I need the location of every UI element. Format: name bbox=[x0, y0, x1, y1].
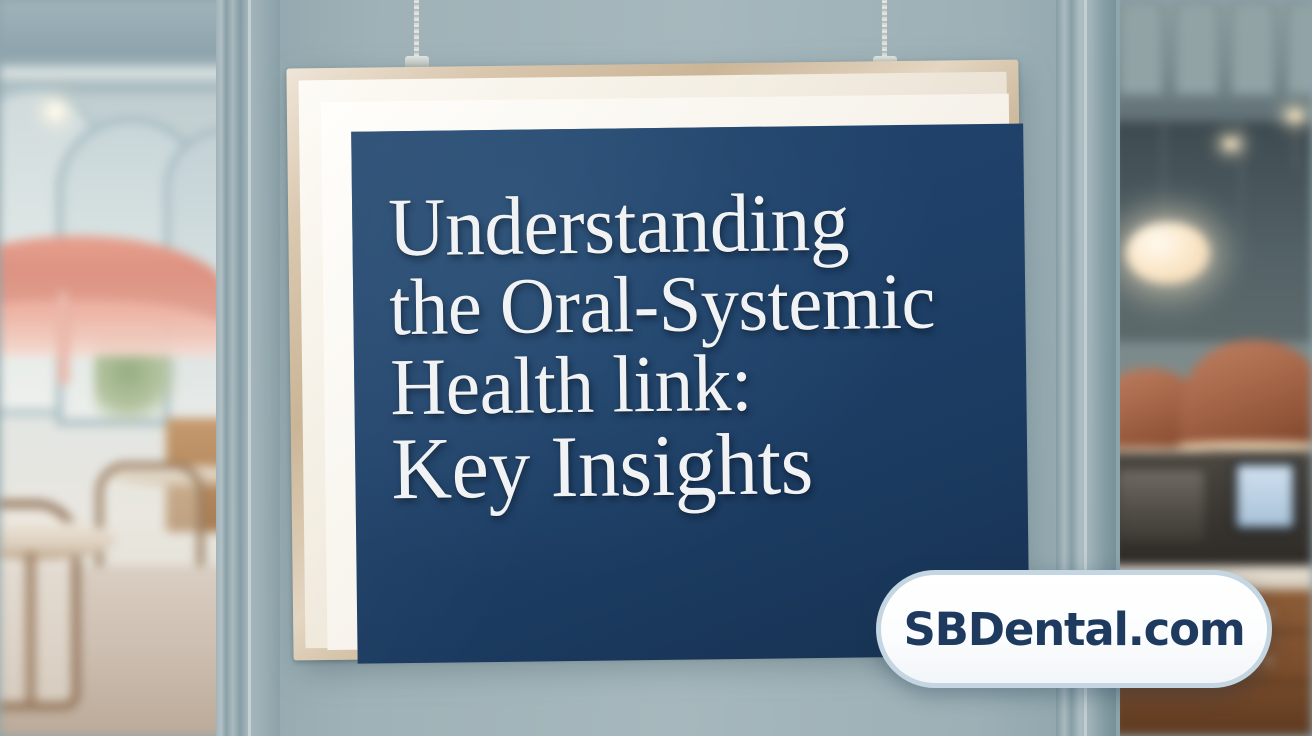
copper-pendant-lamp-2 bbox=[1180, 340, 1312, 448]
pendant-cord-2 bbox=[1240, 120, 1243, 270]
sign-frame-bevel: Understanding the Oral-Systemic Health l… bbox=[299, 72, 1014, 649]
espresso-machine bbox=[1118, 470, 1204, 542]
sign-frame-outer: Understanding the Oral-Systemic Health l… bbox=[286, 60, 1025, 661]
hanging-chain-right bbox=[882, 0, 887, 64]
pos-tablet-screen bbox=[1232, 460, 1298, 532]
sign-headline: Understanding the Oral-Systemic Health l… bbox=[388, 180, 1004, 514]
sign-frame-inner-edge: Understanding the Oral-Systemic Health l… bbox=[321, 94, 1016, 650]
window-pane-1 bbox=[1118, 0, 1164, 96]
scene-root: Understanding the Oral-Systemic Health l… bbox=[0, 0, 1312, 736]
headline-line-1: Understanding bbox=[388, 180, 973, 269]
spotlight-2 bbox=[1288, 112, 1302, 120]
ceiling-beam-left bbox=[0, 66, 248, 80]
umbrella-pole bbox=[58, 292, 69, 384]
bistro-table-leg bbox=[26, 552, 35, 702]
background-cafe-left bbox=[0, 0, 248, 736]
hanging-chain-left bbox=[414, 0, 419, 64]
window-pane-2 bbox=[1174, 0, 1220, 96]
pendant-cord-3 bbox=[1294, 120, 1297, 170]
window-pane-3 bbox=[1230, 0, 1276, 96]
pendant-cord-1 bbox=[1162, 120, 1165, 230]
ceiling-left bbox=[0, 0, 248, 96]
glass-globe-lamp bbox=[1126, 222, 1210, 284]
brand-badge-label: SBDental.com bbox=[903, 603, 1244, 656]
brand-badge[interactable]: SBDental.com bbox=[876, 570, 1272, 688]
ceiling-bulb-icon bbox=[48, 104, 63, 119]
spotlight-1 bbox=[1224, 140, 1238, 148]
window-pane-4 bbox=[1286, 0, 1312, 96]
headline-line-3: Health link: bbox=[390, 341, 975, 428]
headline-line-4: Key Insights bbox=[391, 420, 976, 514]
headline-line-2: the Oral-Systemic bbox=[389, 262, 974, 348]
wall-column-left-highlight bbox=[248, 0, 251, 736]
